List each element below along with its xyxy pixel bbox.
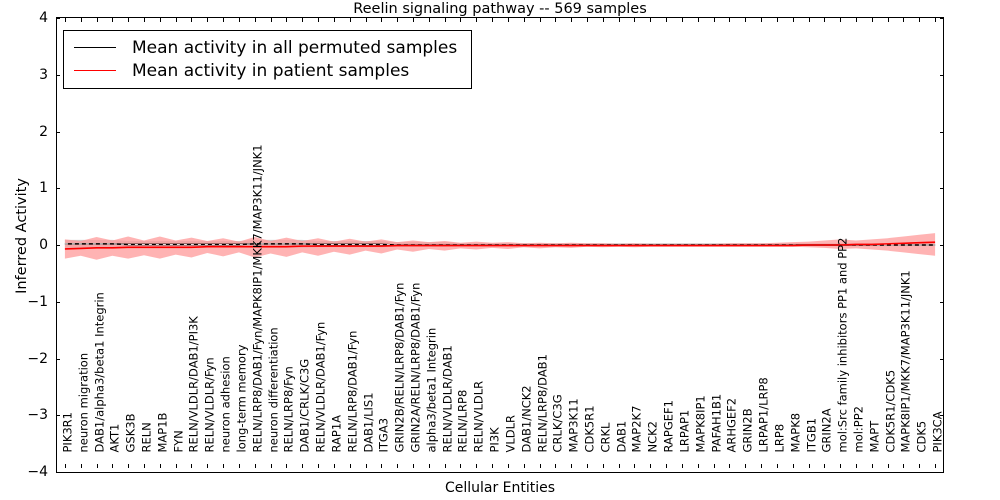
- x-tick-label: ITGB1: [806, 417, 818, 452]
- x-tick-label: ARHGEF2: [727, 397, 739, 452]
- x-tick-label: DAB1/NCK2: [521, 385, 533, 452]
- x-tick-label: MAPT: [869, 420, 881, 452]
- x-tick-label: alpha3/beta1 Integrin: [426, 327, 438, 452]
- x-tick-label: PIK3CA: [933, 411, 945, 452]
- legend-entry-patient: Mean activity in patient samples: [74, 59, 457, 82]
- y-tick-label: 2: [39, 124, 48, 140]
- y-tick-label: −1: [27, 294, 48, 310]
- x-tick-label: GRIN2A/RELN/LRP8/DAB1/Fyn: [410, 282, 422, 452]
- x-tick-label: DAB1/CRLK/C3G: [300, 358, 312, 452]
- x-tick-label: FYN: [173, 430, 185, 452]
- x-tick-label: CRKL: [600, 422, 612, 452]
- legend-label-patient: Mean activity in patient samples: [132, 61, 409, 81]
- y-tick-label: −2: [27, 351, 48, 367]
- x-tick-label: mol:Src family inhibitors PP1 and PP2: [838, 237, 850, 452]
- x-tick-label: long-term memory: [236, 344, 248, 452]
- x-tick-label: RELN/LRP8/DAB1: [537, 354, 549, 452]
- y-tick-label: 1: [39, 180, 48, 196]
- x-tick-label: CDK5: [917, 420, 929, 452]
- x-tick-label: MAP2K7: [632, 405, 644, 452]
- x-tick-label: RELN/VLDLR: [474, 380, 486, 452]
- x-tick-label: VLDLR: [505, 414, 517, 452]
- y-tick-label: −4: [27, 464, 48, 480]
- x-tick-label: CDK5R1: [585, 405, 597, 452]
- x-tick-label: GSK3B: [126, 413, 138, 452]
- x-tick-label: neuron migration: [78, 352, 90, 452]
- y-tick-label: 0: [39, 237, 48, 253]
- x-tick-label: RELN/LRP8: [458, 389, 470, 452]
- x-tick-label: RAP1A: [331, 414, 343, 452]
- x-tick-label: RELN/VLDLR/DAB1/Fyn: [316, 321, 328, 452]
- x-tick-label: LRPAP1/LRP8: [759, 377, 771, 452]
- legend-label-permuted: Mean activity in all permuted samples: [132, 38, 457, 58]
- x-tick-label: MAP3K11: [569, 398, 581, 452]
- x-tick-label: RELN/VLDLR/DAB1/PI3K: [189, 316, 201, 452]
- y-tick-label: 3: [39, 67, 48, 83]
- x-tick-label: mol:PP2: [853, 406, 865, 453]
- x-tick-label: RELN/LRP8/DAB1/Fyn/MAPK8IP1/MKK7/MAP3K11…: [252, 144, 264, 452]
- y-tick-label: −3: [27, 407, 48, 423]
- x-tick-label: LRP8: [774, 423, 786, 452]
- x-tick-label: ITGA3: [379, 417, 391, 452]
- x-tick-label: MAPK8IP1: [695, 395, 707, 452]
- x-tick-label: RELN/LRP8/Fyn: [284, 366, 296, 452]
- legend-entry-permuted: Mean activity in all permuted samples: [74, 36, 457, 59]
- x-tick-label: CRLK/C3G: [553, 394, 565, 452]
- x-tick-label: MAPK8IP1/MKK7/MAP3K11/JNK1: [901, 270, 913, 452]
- x-tick-label: RELN/VLDLR/DAB1: [442, 345, 454, 452]
- x-tick-label: PAFAH1B1: [711, 393, 723, 452]
- legend-line-swatch-permuted: [74, 47, 116, 48]
- x-tick-label: neuron differentiation: [268, 327, 280, 452]
- x-tick-label: PI3K: [490, 427, 502, 452]
- x-tick-label: DAB1/alpha3/beta1 Integrin: [94, 292, 106, 452]
- x-axis-label: Cellular Entities: [56, 480, 944, 496]
- matplotlib-figure: Reelin signaling pathway -- 569 samples …: [0, 0, 1000, 500]
- x-tick-label: GRIN2B: [743, 408, 755, 452]
- x-tick-label: RELN: [142, 422, 154, 452]
- chart-legend: Mean activity in all permuted samples Me…: [63, 30, 472, 89]
- y-tick-label: 4: [39, 10, 48, 26]
- x-tick-label: DAB1: [616, 420, 628, 452]
- x-tick-label: CDK5R1/CDK5: [885, 369, 897, 452]
- x-tick-label: GRIN2A: [822, 408, 834, 452]
- x-tick-label: PIK3R1: [62, 412, 74, 453]
- x-tick-label: DAB1/LIS1: [363, 392, 375, 452]
- x-tick-label: MAP1B: [157, 412, 169, 452]
- x-tick-label: MAPK8: [790, 412, 802, 452]
- x-tick-label: NCK2: [648, 421, 660, 453]
- x-tick-label: RELN/LRP8/DAB1/Fyn: [347, 330, 359, 452]
- x-tick-label: neuron adhesion: [221, 356, 233, 452]
- x-tick-label: RAPGEF1: [664, 400, 676, 452]
- x-tick-label: AKT1: [110, 423, 122, 452]
- x-tick-label: LRPAP1: [679, 409, 691, 452]
- x-tick-label: GRIN2B/RELN/LRP8/DAB1/Fyn: [395, 282, 407, 452]
- x-tick-label: RELN/VLDLR/Fyn: [205, 357, 217, 452]
- y-axis-label: Inferred Activity: [14, 116, 30, 356]
- legend-line-swatch-patient: [74, 70, 116, 71]
